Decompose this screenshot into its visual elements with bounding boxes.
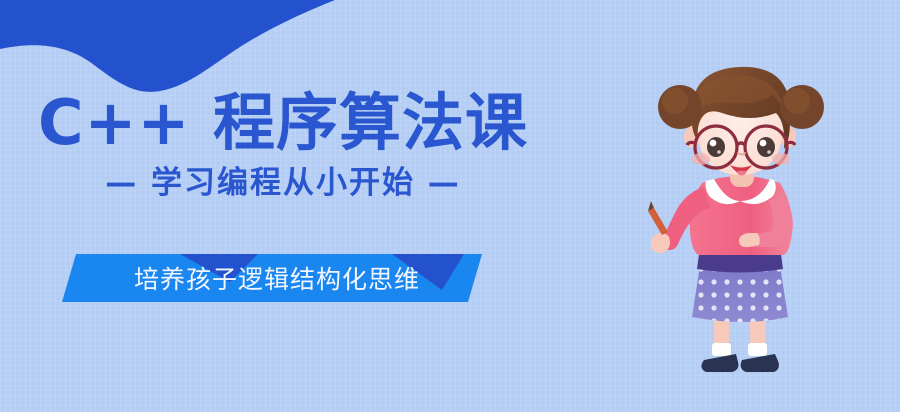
socks-group (712, 343, 767, 356)
right-shoe (741, 354, 779, 372)
girl-student-illustration (630, 55, 880, 385)
torso-group (648, 176, 793, 255)
head-group (658, 67, 824, 176)
hair-bun-left (658, 85, 702, 129)
headline-group: C++ 程序算法课 — 学习编程从小开始 — (0, 92, 560, 199)
left-shoe (701, 354, 738, 372)
skirt-group (692, 247, 788, 322)
right-blush (772, 153, 790, 165)
wave-shape (0, 0, 335, 92)
course-promo-banner: C++ 程序算法课 — 学习编程从小开始 — 培养孩子逻辑结构化思维 (0, 0, 900, 412)
pencil-icon (648, 208, 668, 235)
tagline-text: 培养孩子逻辑结构化思维 (62, 254, 482, 302)
left-blush (692, 153, 710, 165)
shoes-group (701, 354, 778, 372)
left-hand (651, 233, 670, 253)
hair-bun-right (780, 85, 824, 129)
page-subtitle: — 学习编程从小开始 — (0, 168, 560, 199)
tagline-banner: 培养孩子逻辑结构化思维 (62, 254, 482, 302)
page-title: C++ 程序算法课 (0, 92, 560, 154)
